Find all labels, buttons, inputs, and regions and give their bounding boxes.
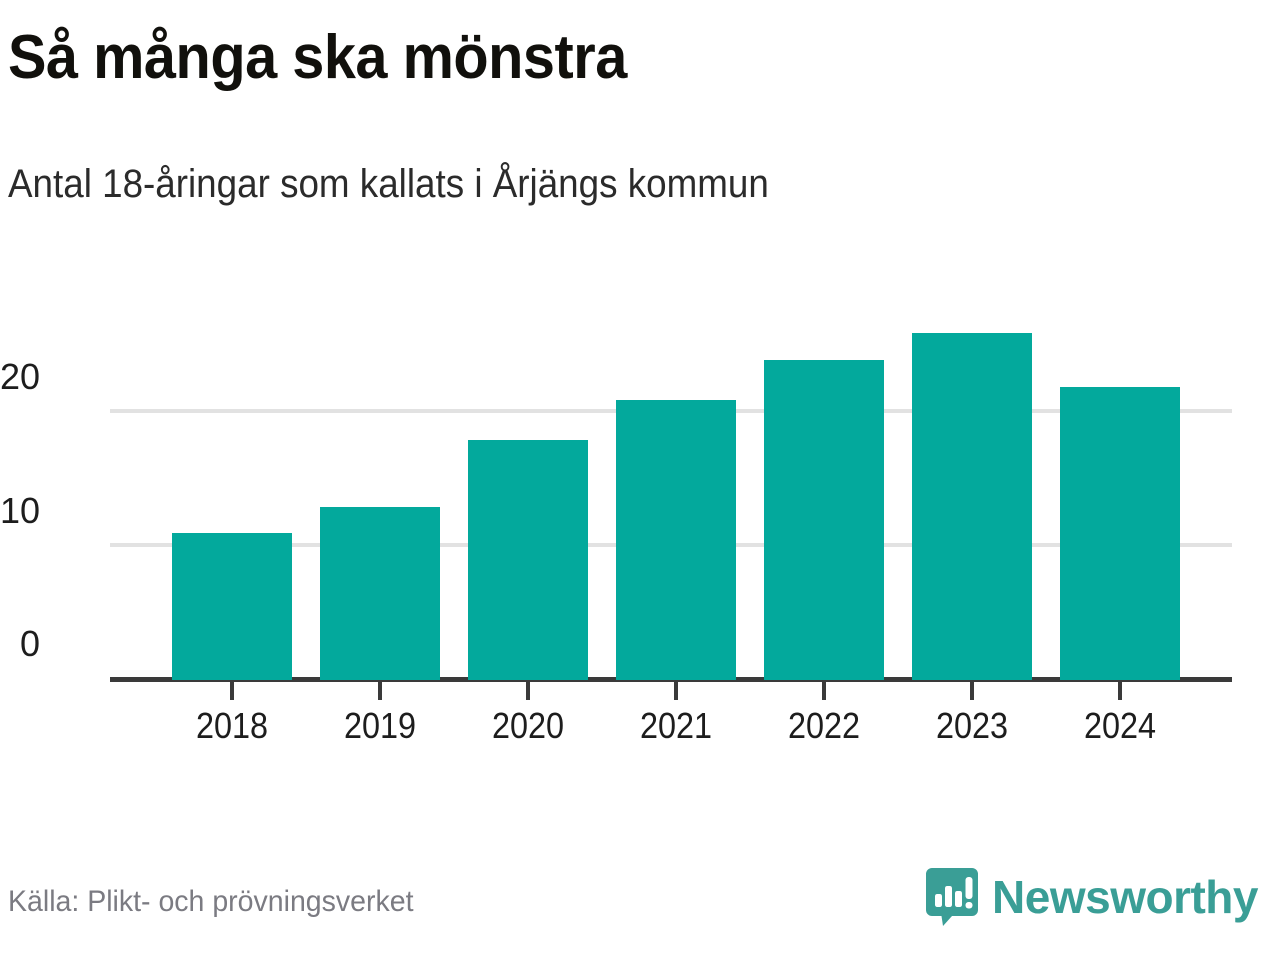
x-axis-tick-2018	[230, 680, 234, 700]
x-axis-label-2023: 2023	[918, 706, 1026, 746]
chart-page: Så många ska mönstra Antal 18-åringar so…	[0, 0, 1280, 960]
source-note: Källa: Plikt- och prövningsverket	[8, 884, 414, 920]
x-axis-label-2018: 2018	[178, 706, 286, 746]
newsworthy-wordmark: Newsworthy	[992, 874, 1258, 920]
x-axis-tick-2024	[1118, 680, 1122, 700]
x-axis-tick-2022	[822, 680, 826, 700]
y-axis-label-10: 10	[0, 493, 40, 529]
x-axis-tick-2020	[526, 680, 530, 700]
bar-2024[interactable]	[1060, 387, 1180, 680]
bar-2018[interactable]	[172, 533, 292, 680]
x-axis-tick-2019	[378, 680, 382, 700]
bar-chart: 010202018201920202021202220232024	[0, 300, 1280, 770]
x-axis-label-2024: 2024	[1066, 706, 1174, 746]
newsworthy-bubble-chart-logo-icon	[926, 868, 978, 926]
bar-2019[interactable]	[320, 507, 440, 680]
x-axis-label-2019: 2019	[326, 706, 434, 746]
page-subtitle: Antal 18-åringar som kallats i Årjängs k…	[8, 160, 769, 208]
x-axis-tick-2023	[970, 680, 974, 700]
x-axis-label-2021: 2021	[622, 706, 730, 746]
newsworthy-logo[interactable]: Newsworthy	[926, 866, 1258, 928]
x-axis-tick-2021	[674, 680, 678, 700]
y-axis-label-0: 0	[0, 626, 40, 662]
bar-2022[interactable]	[764, 360, 884, 680]
bar-2020[interactable]	[468, 440, 588, 680]
bar-2023[interactable]	[912, 333, 1032, 680]
x-axis-label-2022: 2022	[770, 706, 878, 746]
plot-area: 010202018201920202021202220232024	[110, 320, 1232, 680]
bar-2021[interactable]	[616, 400, 736, 680]
x-axis-label-2020: 2020	[474, 706, 582, 746]
page-title: Så många ska mönstra	[8, 22, 627, 94]
y-axis-label-20: 20	[0, 359, 40, 395]
